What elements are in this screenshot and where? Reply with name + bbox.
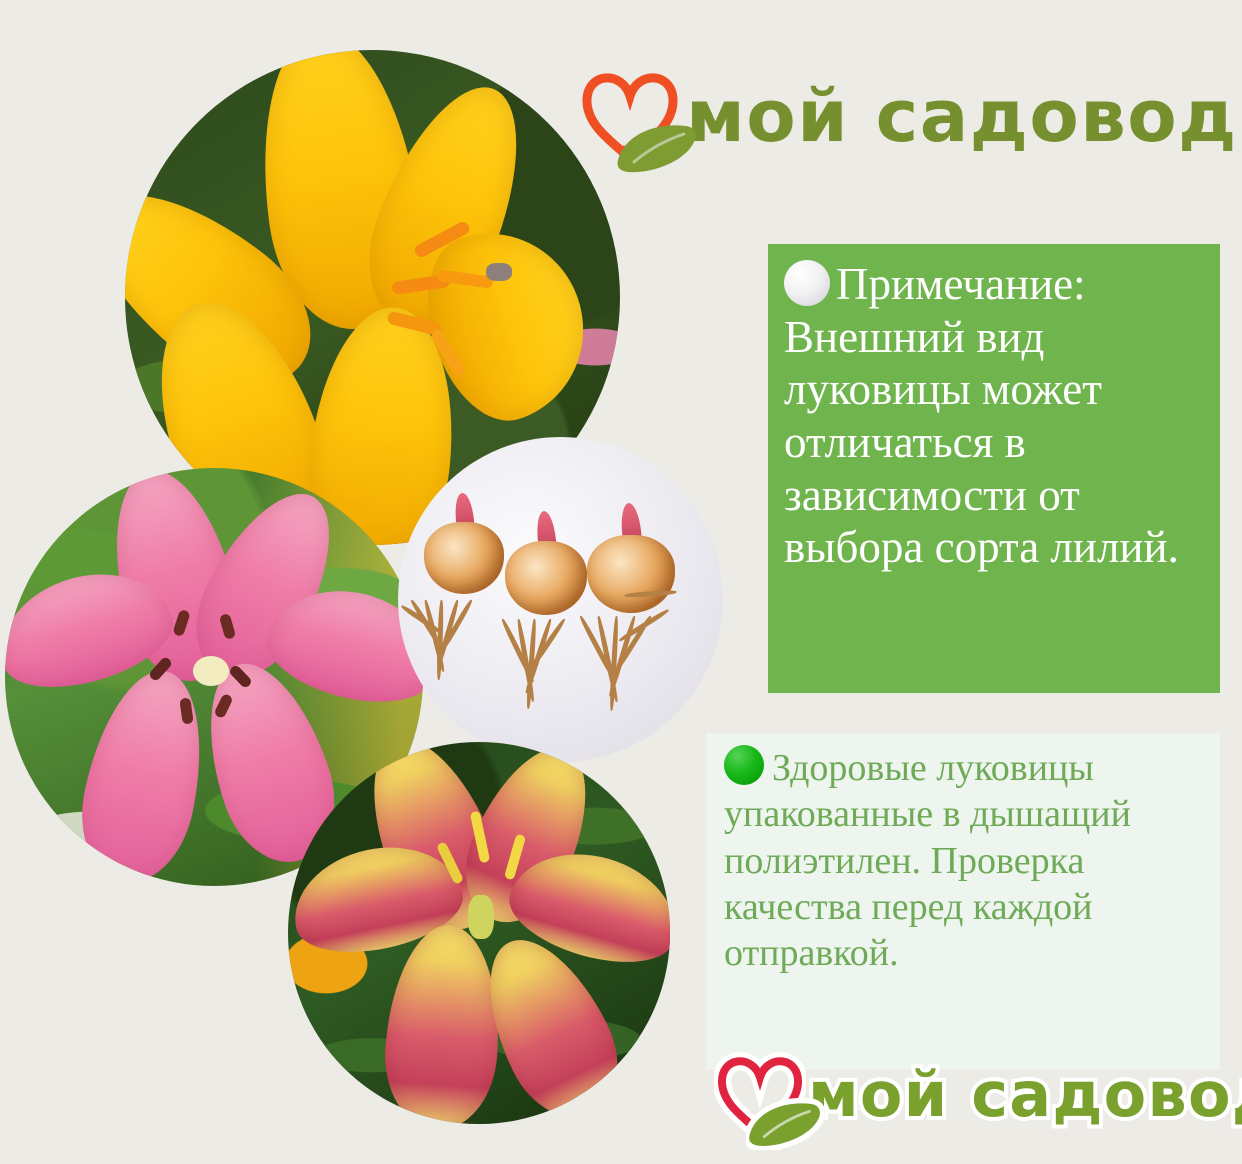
photo-lily-bulbs — [398, 437, 723, 762]
lily-bulb — [587, 535, 675, 613]
leaf-icon — [614, 120, 700, 176]
lily-bulb — [505, 541, 587, 615]
logo-mark — [714, 1046, 806, 1144]
logo-mark — [578, 62, 682, 170]
note-text: Внешний вид луковицы может отличаться в … — [784, 312, 1179, 573]
quality-text-block: Здоровые луковицы упакованные в дышащий … — [724, 745, 1210, 977]
quality-text: Здоровые луковицы упакованные в дышащий … — [724, 747, 1131, 974]
pistil-stigma — [486, 263, 512, 281]
lily-bulb — [424, 522, 504, 594]
note-heading: Примечание: — [836, 259, 1086, 309]
leaf-icon — [746, 1098, 824, 1150]
brand-logo-bottom: мой садовод — [714, 1046, 1242, 1144]
bulb-body — [587, 535, 675, 613]
photo-red-yellow-lily — [288, 742, 670, 1124]
bulb-roots — [574, 616, 704, 721]
white-circle-bullet-icon — [784, 260, 830, 306]
note-panel: Примечание: Внешний вид луковицы может о… — [768, 244, 1220, 693]
green-circle-bullet-icon — [724, 745, 764, 785]
bulb-body — [424, 522, 504, 594]
pistil — [468, 895, 494, 939]
pistil — [193, 656, 229, 686]
quality-panel: Здоровые луковицы упакованные в дышащий … — [706, 733, 1220, 1070]
logo-wordmark: мой садовод — [686, 80, 1238, 152]
note-text-block: Примечание: Внешний вид луковицы может о… — [784, 258, 1202, 574]
bulb-body — [505, 541, 587, 615]
brand-logo-top: мой садовод — [578, 62, 1238, 170]
logo-wordmark: мой садовод — [808, 1064, 1242, 1126]
poster-canvas: мой садовод Примечание: Внешний вид луко… — [0, 0, 1242, 1164]
